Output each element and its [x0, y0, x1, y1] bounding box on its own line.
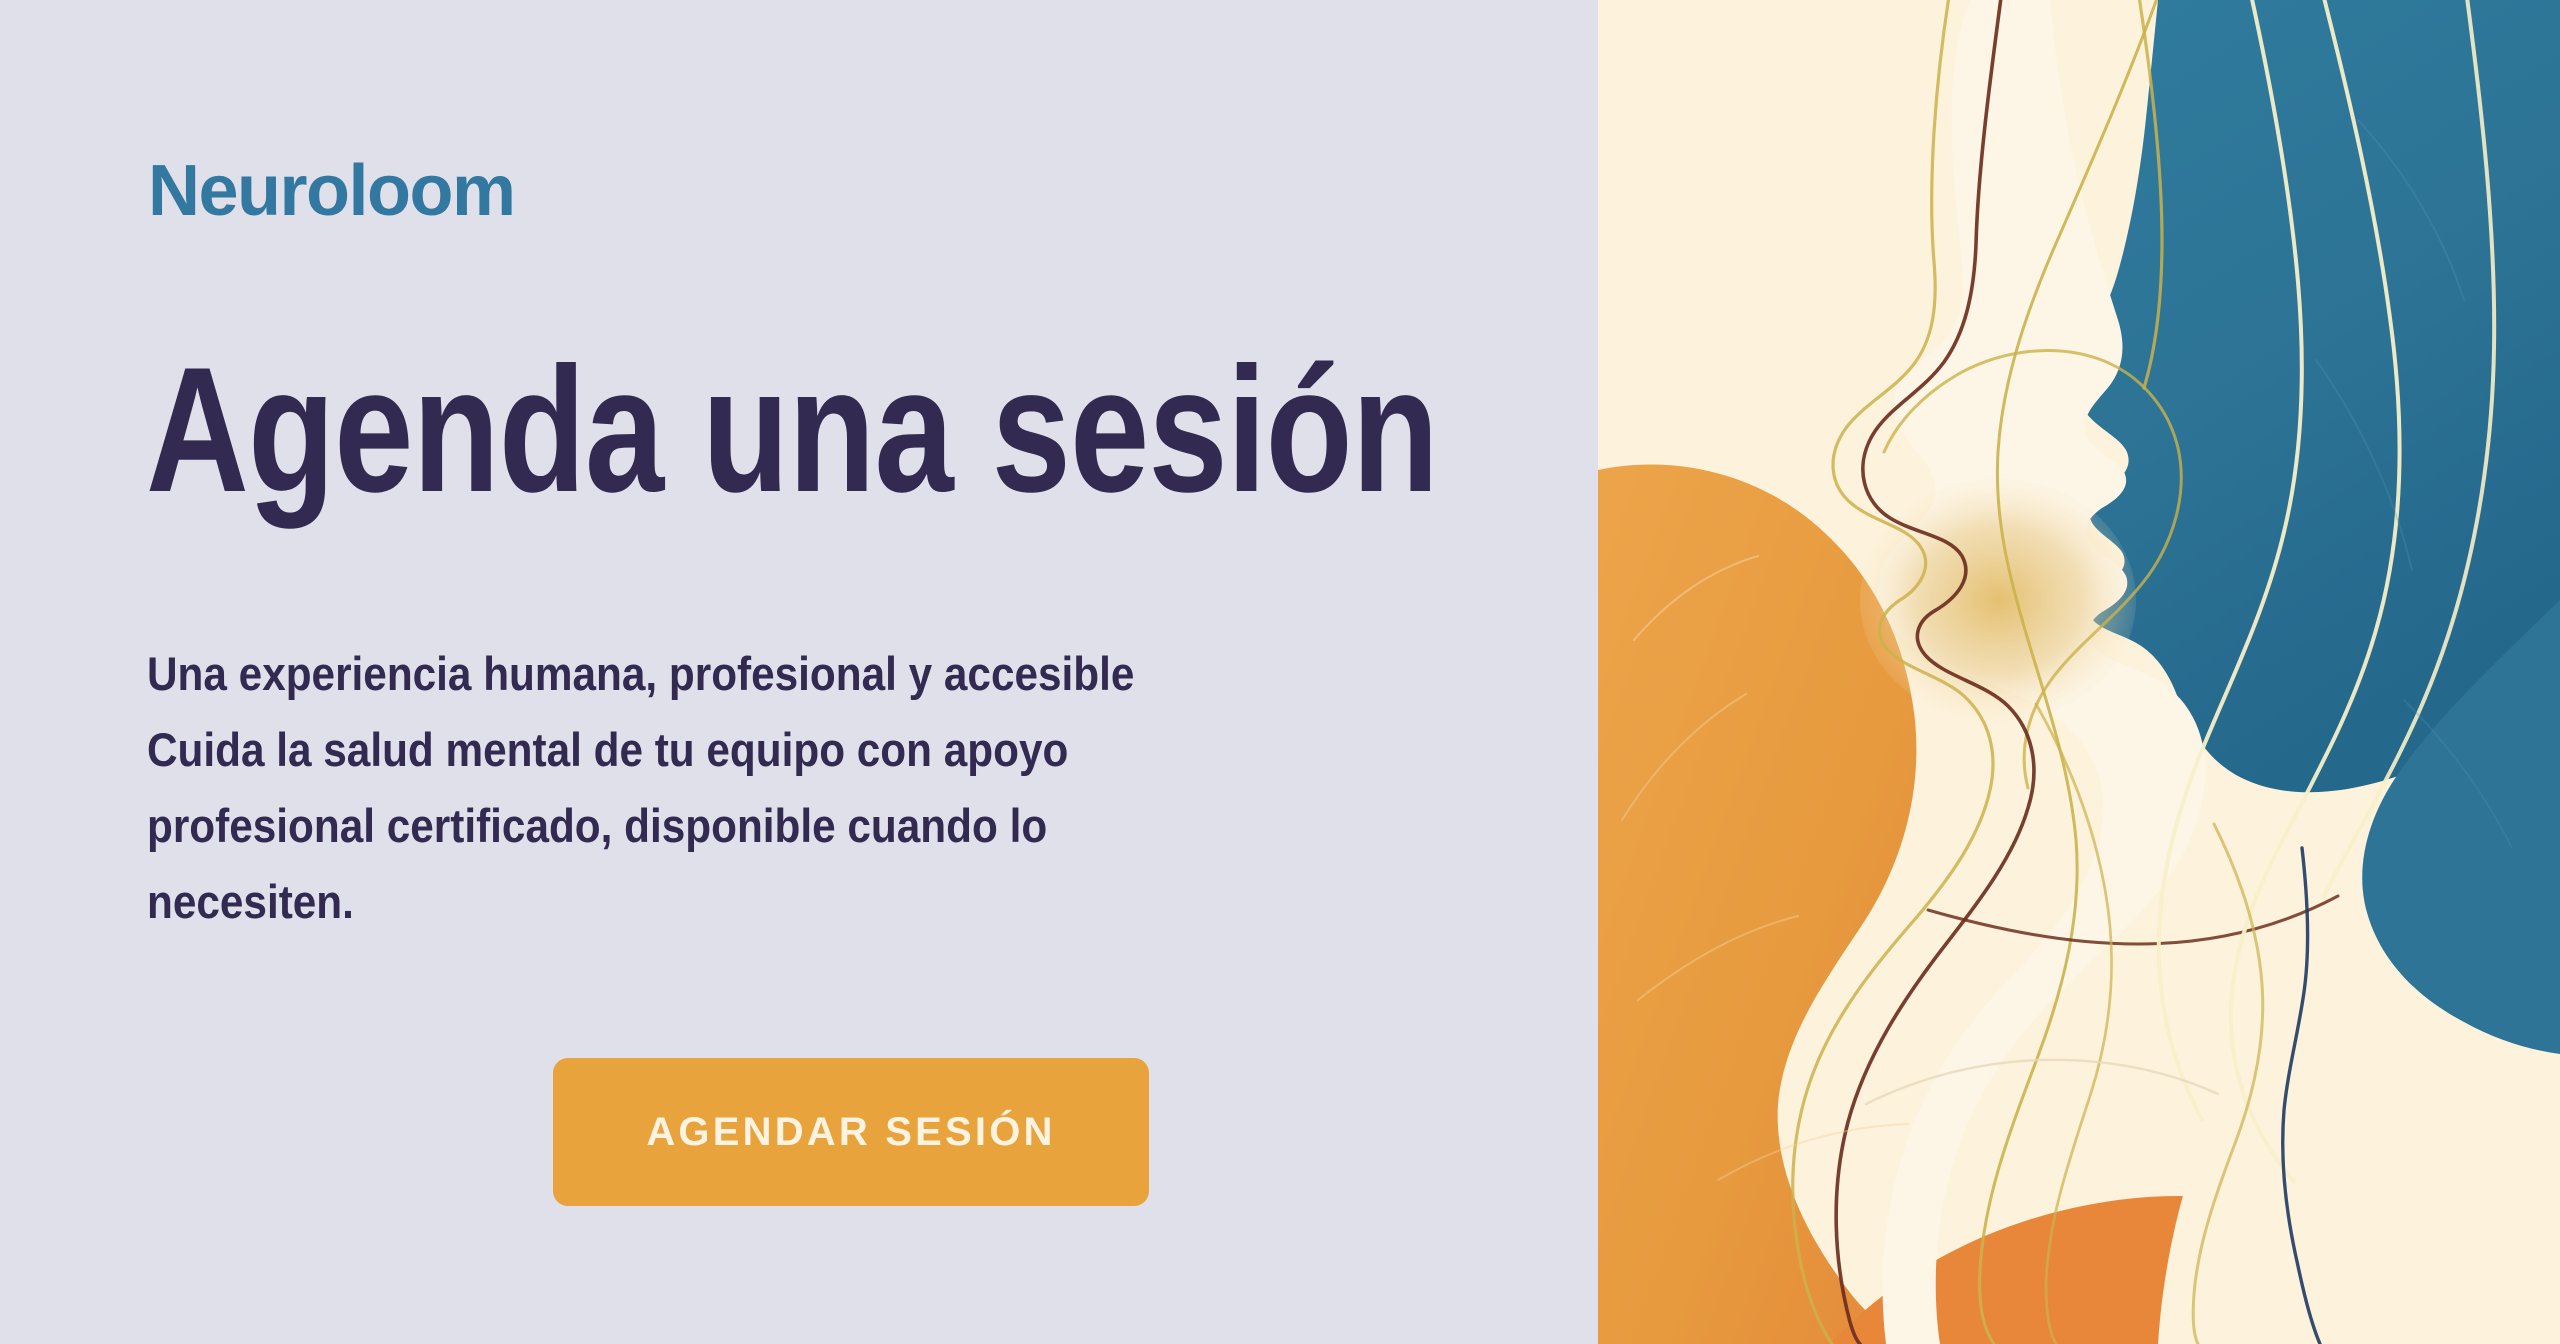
brand-wordmark: Neuroloom [148, 155, 515, 227]
schedule-session-button[interactable]: AGENDAR SESIÓN [553, 1058, 1149, 1206]
page-title: Agenda una sesión [146, 348, 1438, 512]
hero-illustration [1598, 0, 2560, 1344]
hero-subcopy: Una experiencia humana, profesional y ac… [147, 636, 1209, 940]
hero-copy-panel: Neuroloom Agenda una sesión Una experien… [0, 0, 1598, 1344]
hero-section: Neuroloom Agenda una sesión Una experien… [0, 0, 2560, 1344]
profiles-artwork-svg [1598, 0, 2560, 1344]
